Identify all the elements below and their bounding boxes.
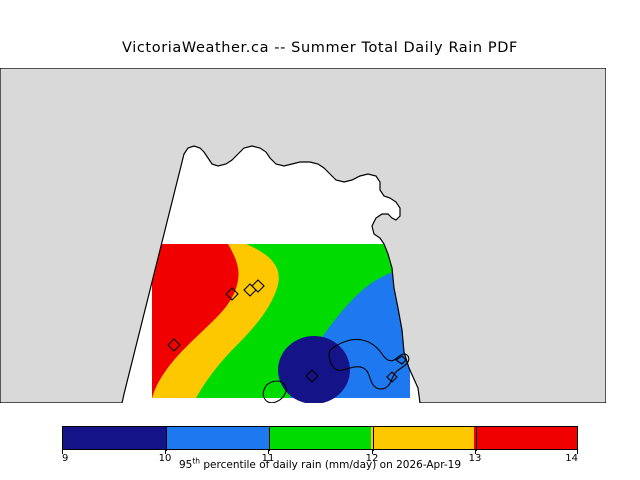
weather-map-page: VictoriaWeather.ca -- Summer Total Daily… [0, 0, 640, 480]
page-title: VictoriaWeather.ca -- Summer Total Daily… [0, 40, 640, 56]
colorbar-separator [166, 427, 167, 451]
map-canvas[interactable] [0, 68, 606, 403]
caption-prefix: 95 [179, 459, 192, 471]
colorbar-band-9-10[interactable] [63, 427, 166, 449]
colorbar[interactable]: 91011121314 [62, 426, 578, 450]
colorbar-separator [476, 427, 477, 451]
colorbar-caption: 95th percentile of daily rain (mm/day) o… [0, 459, 640, 471]
colorbar-band-10-11[interactable] [166, 427, 269, 449]
colorbar-strip[interactable] [62, 426, 578, 450]
colorbar-separator [269, 427, 270, 451]
contour-field [152, 244, 410, 403]
map-panel[interactable] [0, 68, 606, 403]
colorbar-band-13-14[interactable] [474, 427, 577, 449]
colorbar-band-12-13[interactable] [371, 427, 474, 449]
colorbar-separator [373, 427, 374, 451]
contour-band-9-10 [278, 336, 350, 403]
caption-superscript: th [192, 457, 200, 466]
caption-rest: percentile of daily rain (mm/day) on 202… [200, 459, 461, 471]
colorbar-band-11-12[interactable] [269, 427, 372, 449]
